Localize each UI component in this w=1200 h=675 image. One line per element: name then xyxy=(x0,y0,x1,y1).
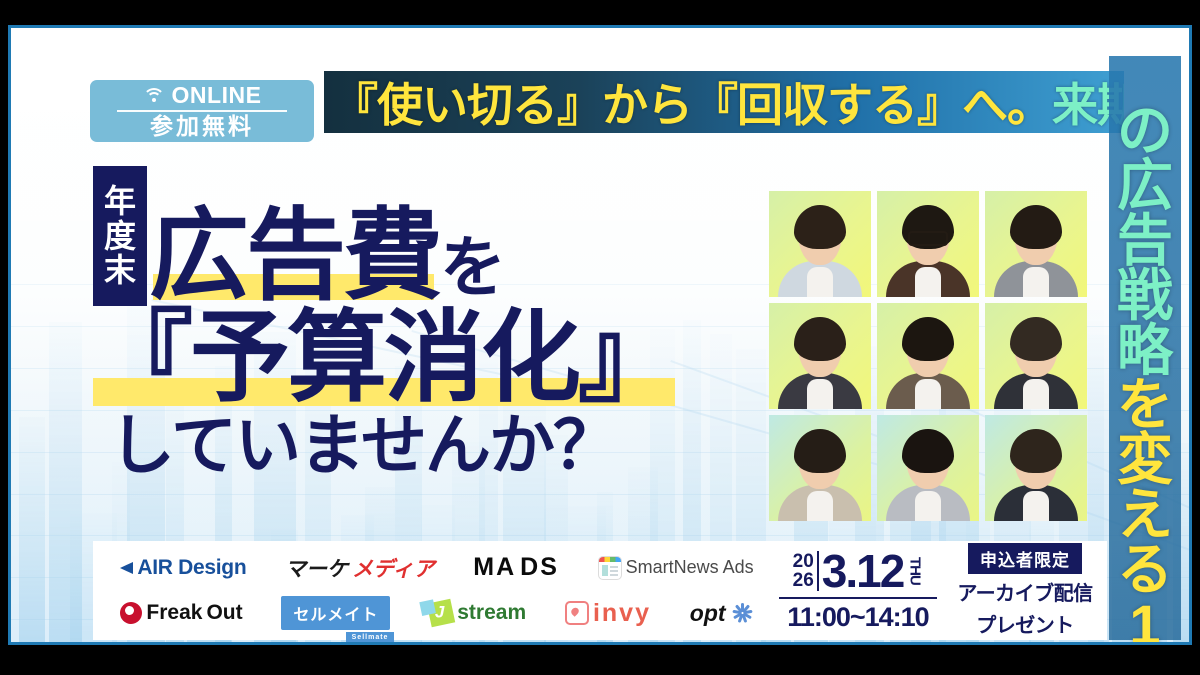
date-underline xyxy=(779,597,937,599)
logo-sellmate-sublabel: Sellmate xyxy=(346,632,395,643)
play-triangle-icon xyxy=(120,562,133,574)
online-label: ONLINE xyxy=(172,82,262,109)
logo-markemedia: マーケメディア xyxy=(285,553,435,583)
speaker-photo-4 xyxy=(769,303,871,409)
event-time: 11:00~14:10 xyxy=(787,602,928,633)
fiscal-tag-char-2: 末 xyxy=(104,253,136,288)
logo-sellmate: セルメイト Sellmate xyxy=(281,596,390,630)
logo-row-2: FreakOut セルメイト Sellmate J stream invy xyxy=(101,591,773,637)
vstrip-char-yellow-3: る xyxy=(1117,543,1173,598)
speaker-photo-5 xyxy=(877,303,979,409)
fiscal-year-end-tag: 年度末 xyxy=(93,166,147,306)
webinar-banner: ONLINE 参加無料 『使い切る』から『回収する』へ。 来期 の広告戦略を変え… xyxy=(8,25,1192,645)
speaker-photo-2 xyxy=(877,191,979,297)
event-month-day: 3.12 xyxy=(822,548,904,594)
logo-row-1: AIR Design マーケメディア MADS SmartNews Ads xyxy=(101,545,773,591)
logo-invy-label: invy xyxy=(593,599,651,628)
event-year: 20 26 xyxy=(793,552,814,590)
headline-block: 年度末 広告費を 『予算消化』 していませんか？ xyxy=(93,166,733,478)
event-year-top: 20 xyxy=(793,552,814,571)
smartnews-icon xyxy=(598,556,622,580)
jstream-mark: J xyxy=(435,603,444,623)
headline-particle-wo: を xyxy=(440,230,504,304)
date-divider xyxy=(817,551,819,591)
vstrip-char-cyan-2: 告 xyxy=(1117,214,1173,269)
logo-mads-label-2: DS xyxy=(520,553,559,582)
event-date-block: 20 26 3.12 THU 11:00~14:10 xyxy=(773,541,943,640)
freakout-icon xyxy=(120,602,142,624)
logo-opt-label: opt xyxy=(690,600,726,627)
online-free-badge: ONLINE 参加無料 xyxy=(90,80,314,142)
speaker-photo-7 xyxy=(769,415,871,521)
headline-line-1: 年度末 広告費を xyxy=(93,166,733,306)
logo-freakout-label-1: Freak xyxy=(146,601,202,625)
headline-line-2: 『予算消化』 xyxy=(93,308,733,408)
bottom-info-strip: AIR Design マーケメディア MADS SmartNews Ads xyxy=(93,541,1107,640)
vstrip-char-yellow-2: え xyxy=(1117,488,1173,543)
logo-freakout: FreakOut xyxy=(120,601,242,625)
headline-ad-cost: 広告費 xyxy=(149,200,440,312)
vstrip-char-cyan-1: 広 xyxy=(1117,159,1173,214)
fiscal-tag-char-1: 度 xyxy=(104,219,136,254)
archive-offer-block: 申込者限定 アーカイブ配信 プレゼント xyxy=(943,541,1107,640)
badge-divider xyxy=(117,110,287,112)
headline-question: していませんか？ xyxy=(109,412,617,478)
tagline-bar: 『使い切る』から『回収する』へ。 来期 xyxy=(324,71,1124,133)
logo-smartnews-label: SmartNews Ads xyxy=(626,557,754,578)
speaker-photo-6 xyxy=(985,303,1087,409)
logo-sellmate-label: セルメイト Sellmate xyxy=(281,596,390,630)
speaker-photo-8 xyxy=(877,415,979,521)
sponsor-logo-area: AIR Design マーケメディア MADS SmartNews Ads xyxy=(93,541,773,640)
tagline-part1: 『使い切る』から『回収する』へ。 xyxy=(332,71,1052,133)
event-year-bottom: 26 xyxy=(793,571,814,590)
vertical-tagline-strip: の広告戦略を変える1日 xyxy=(1109,56,1181,640)
invy-icon xyxy=(565,601,589,625)
logo-invy: invy xyxy=(565,599,651,628)
headline-budget-spend: 『予算消化』 xyxy=(93,302,675,414)
logo-markemedia-label-2: メディア xyxy=(352,553,435,583)
opt-burst-icon xyxy=(730,601,754,625)
vstrip-char-cyan-3: 戦 xyxy=(1117,269,1173,324)
speaker-photo-3 xyxy=(985,191,1087,297)
logo-opt: opt xyxy=(690,600,754,627)
logo-jstream: J stream xyxy=(429,601,526,625)
event-day-of-week: THU xyxy=(906,557,923,585)
logo-mads: MADS xyxy=(473,553,559,582)
vstrip-char-yellow-4: 1 xyxy=(1129,598,1160,645)
speaker-photo-9 xyxy=(985,415,1087,521)
archive-line-2: プレゼント xyxy=(976,609,1074,638)
logo-air-design: AIR Design xyxy=(120,556,246,580)
jstream-icon: J xyxy=(427,599,455,627)
fiscal-tag-char-0: 年 xyxy=(104,184,136,219)
event-date-main: 20 26 3.12 THU xyxy=(793,548,924,594)
logo-freakout-label-2: Out xyxy=(206,601,242,625)
speaker-photo-1 xyxy=(769,191,871,297)
vstrip-char-yellow-1: 変 xyxy=(1117,433,1173,488)
speaker-photo-grid xyxy=(769,191,1087,521)
free-entry-label: 参加無料 xyxy=(90,112,314,140)
online-badge-line1: ONLINE xyxy=(90,80,314,110)
vstrip-char-yellow-0: を xyxy=(1117,378,1173,433)
archive-line-1: アーカイブ配信 xyxy=(957,577,1092,606)
headline-line-3: していませんか？ xyxy=(109,412,733,478)
logo-air-design-label: AIR Design xyxy=(137,556,246,580)
logo-markemedia-label-1: マーケ xyxy=(285,553,348,583)
logo-jstream-label: stream xyxy=(457,601,526,625)
logo-mads-label-1: MA xyxy=(473,553,516,582)
wifi-icon xyxy=(143,87,165,103)
logo-smartnews-ads: SmartNews Ads xyxy=(598,556,754,580)
vstrip-char-cyan-0: の xyxy=(1117,104,1173,159)
vstrip-char-cyan-4: 略 xyxy=(1117,324,1173,379)
applicants-only-badge: 申込者限定 xyxy=(968,543,1082,574)
